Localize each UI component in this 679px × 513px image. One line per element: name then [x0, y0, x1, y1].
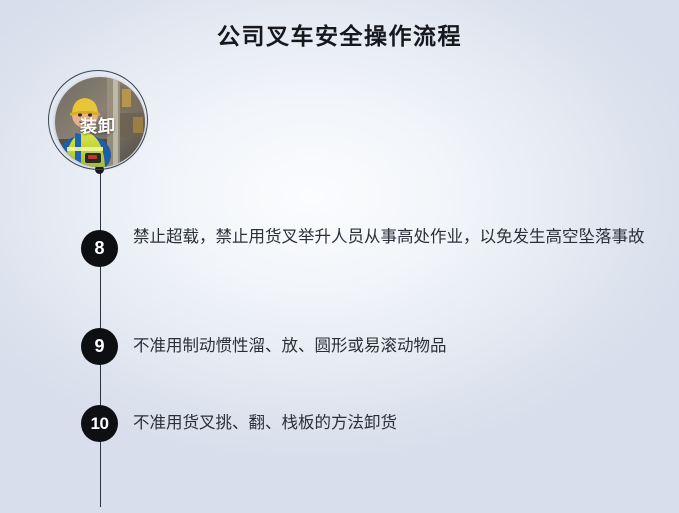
- step-text: 不准用货叉挑、翻、栈板的方法卸货: [133, 408, 658, 438]
- step-number-badge: 9: [81, 328, 118, 365]
- slide-canvas: 公司叉车安全操作流程: [0, 0, 679, 513]
- step-text: 禁止超载，禁止用货叉举升人员从事高处作业，以免发生高空坠落事故: [133, 222, 658, 252]
- step-number-badge: 8: [81, 230, 118, 267]
- step-text: 不准用制动惯性溜、放、圆形或易滚动物品: [133, 331, 658, 361]
- page-title: 公司叉车安全操作流程: [0, 17, 679, 51]
- step-number-badge: 10: [81, 405, 118, 442]
- photo-node-label: 装卸: [48, 112, 148, 137]
- photo-node[interactable]: 装卸: [48, 70, 152, 174]
